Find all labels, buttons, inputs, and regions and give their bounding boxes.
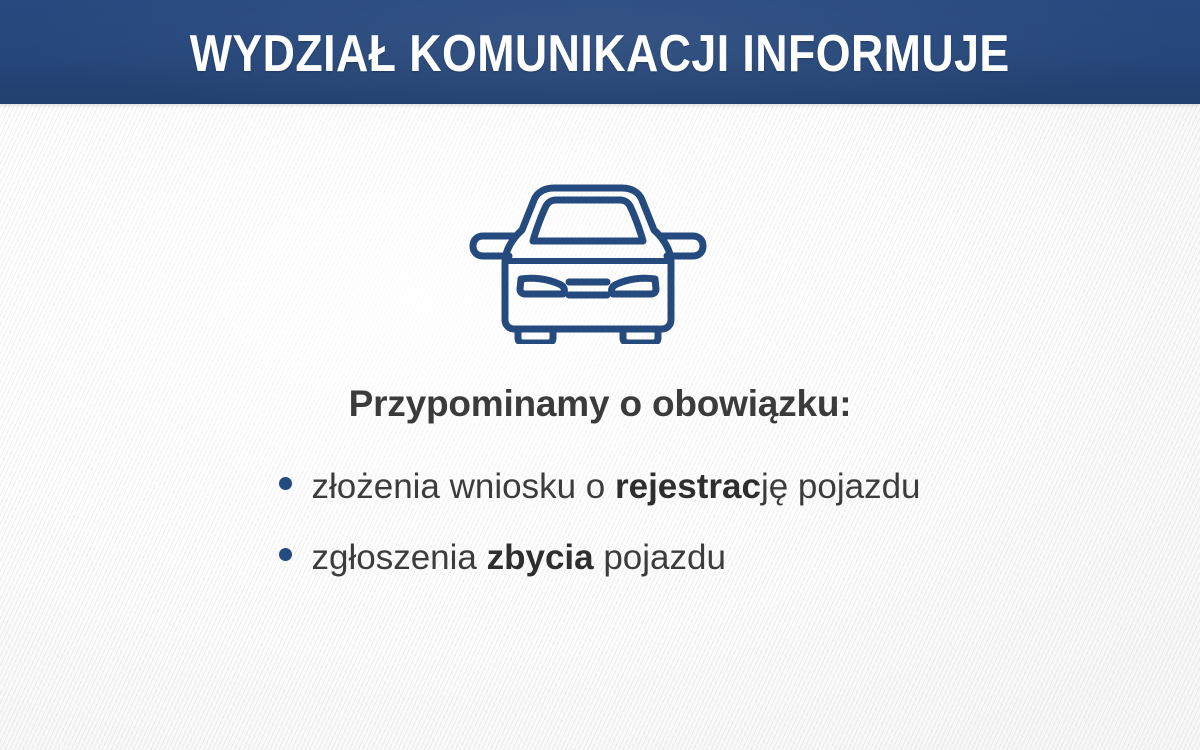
paper-sheen-overlay <box>0 0 1200 750</box>
content-block: Przypominamy o obowiązku: złożenia wnios… <box>0 382 1200 577</box>
list-item-text: zgłoszenia zbycia pojazdu <box>311 539 725 578</box>
lead-text: Przypominamy o obowiązku: <box>0 382 1200 426</box>
bullet-dot-icon <box>279 477 292 490</box>
car-front-icon <box>456 178 720 344</box>
list-item-prefix: złożenia wniosku o <box>311 467 615 506</box>
list-item-prefix: zgłoszenia <box>311 538 486 577</box>
list-item-tail: ję <box>761 467 788 506</box>
list-item-text: złożenia wniosku o rejestrację pojazdu <box>311 468 920 507</box>
list-item: zgłoszenia zbycia pojazdu <box>279 539 920 578</box>
poster-canvas: WYDZIAŁ KOMUNIKACJI INFORMUJE <box>0 0 1200 750</box>
obligations-list: złożenia wniosku o rejestrację pojazdu z… <box>279 468 920 577</box>
header-band: WYDZIAŁ KOMUNIKACJI INFORMUJE <box>0 0 1200 104</box>
list-item-emphasis: zbycia <box>487 538 594 577</box>
list-item-suffix: pojazdu <box>594 538 726 577</box>
list-item: złożenia wniosku o rejestrację pojazdu <box>279 468 920 507</box>
list-item-emphasis: rejestrac <box>615 467 761 506</box>
bullet-dot-icon <box>279 548 292 561</box>
header-title: WYDZIAŁ KOMUNIKACJI INFORMUJE <box>190 28 1010 80</box>
paper-texture-background <box>0 0 1200 750</box>
list-item-suffix: pojazdu <box>788 467 920 506</box>
